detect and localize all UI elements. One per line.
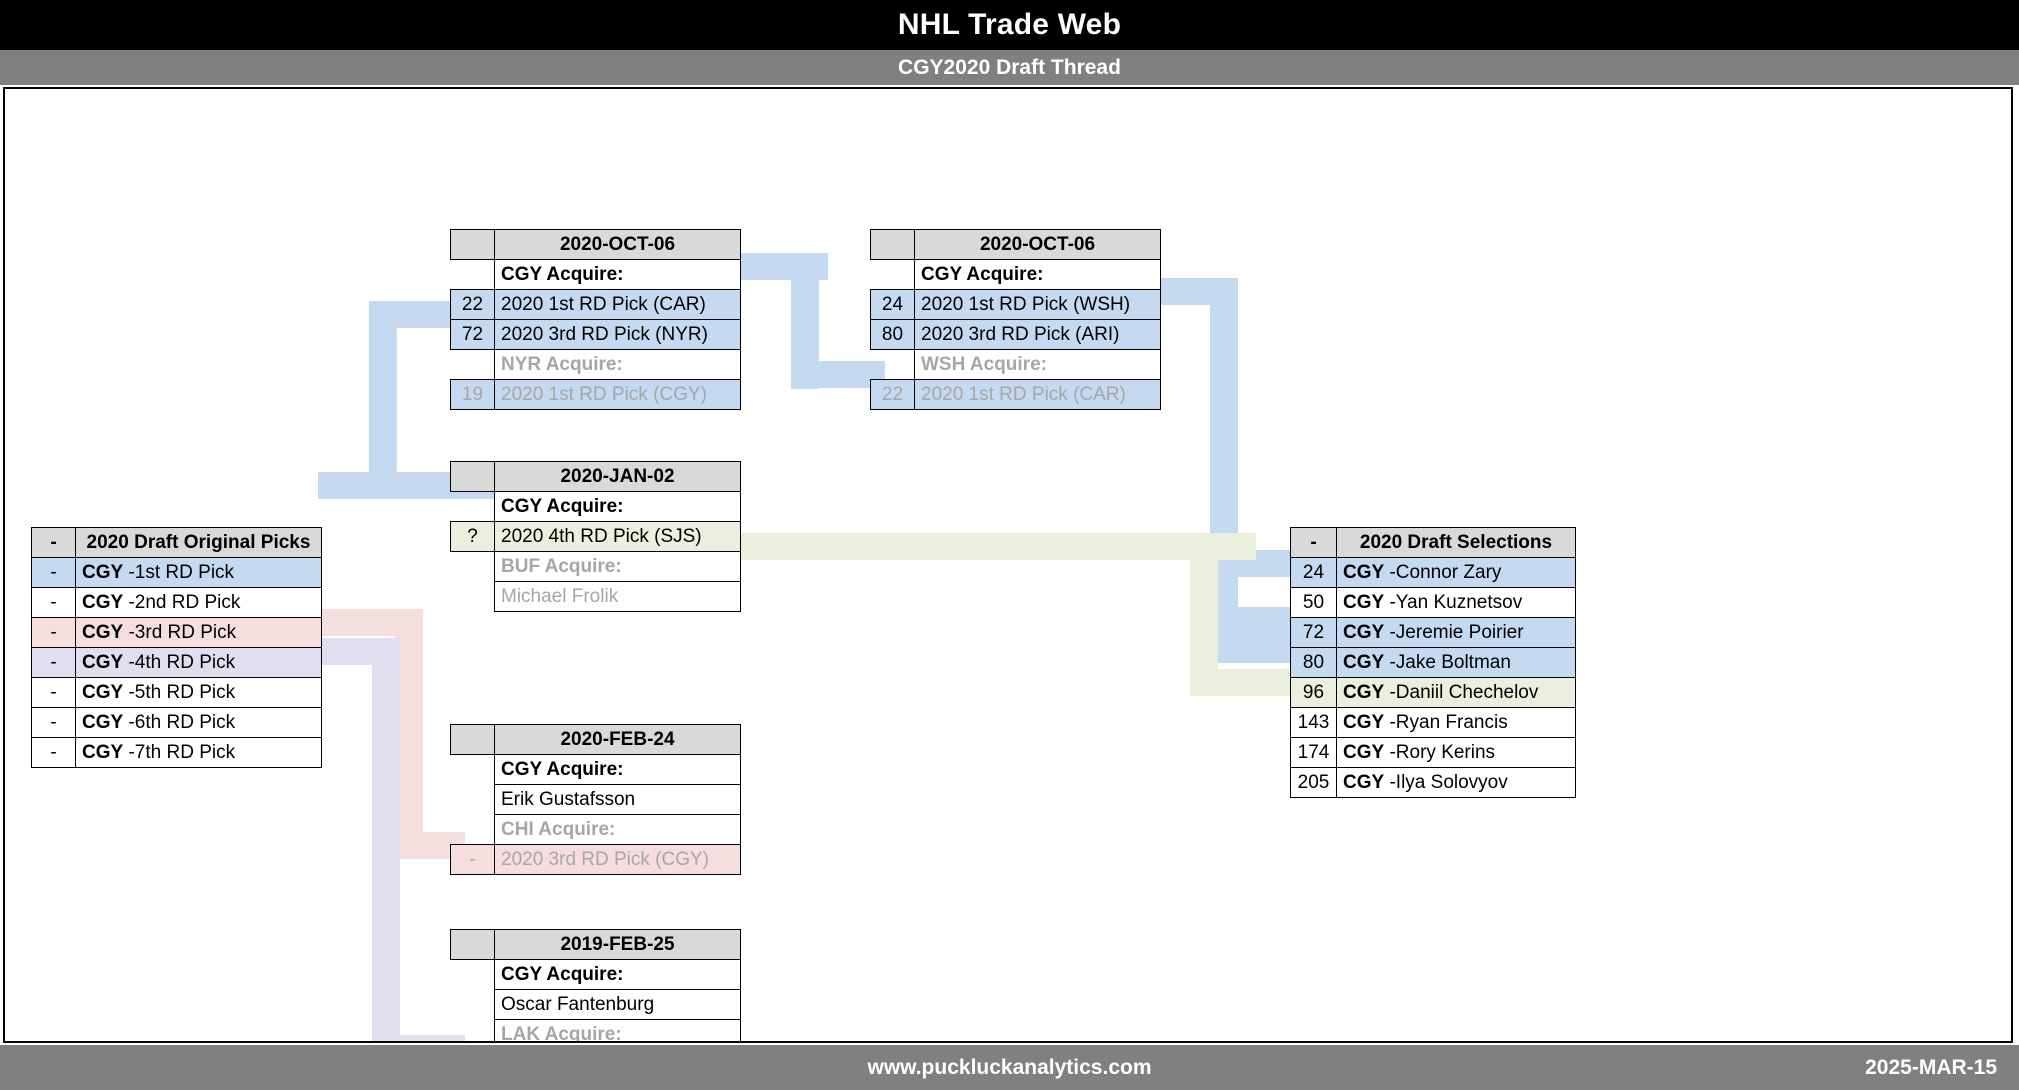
connector-blue-right-7280	[1210, 607, 1292, 663]
table-row[interactable]: - CGY -3rd RD Pick	[32, 618, 322, 648]
give-label: WSH Acquire:	[915, 350, 1161, 380]
asset-pick-number: 19	[451, 380, 495, 410]
acquire-label: CGY Acquire:	[495, 260, 741, 290]
table-row[interactable]: - CGY -7th RD Pick	[32, 738, 322, 768]
asset-pick-number: 80	[871, 320, 915, 350]
asset-desc: Erik Gustafsson	[495, 785, 741, 815]
trade-asset-row[interactable]: 22 2020 1st RD Pick (CAR)	[451, 290, 741, 320]
give-label: NYR Acquire:	[495, 350, 741, 380]
asset-pick-number: 22	[871, 380, 915, 410]
spacer-cell	[451, 785, 495, 815]
page-title: NHL Trade Web	[898, 8, 1121, 42]
team-code: CGY	[1343, 622, 1384, 643]
trade-corner	[451, 462, 495, 492]
trade-card-2020-oct-06-a: 2020-OCT-06 CGY Acquire: 22 2020 1st RD …	[450, 229, 741, 410]
trade-date-row: 2019-FEB-25	[451, 930, 741, 960]
connector-blue-1st-horiz-high	[369, 301, 463, 328]
pick-desc: CGY -1st RD Pick	[76, 558, 322, 588]
trade-asset-row[interactable]: Erik Gustafsson	[451, 785, 741, 815]
team-code: CGY	[1343, 652, 1384, 673]
spacer-cell	[451, 990, 495, 1020]
trade-acquire-header: CGY Acquire:	[451, 260, 741, 290]
trade-web-page: NHL Trade Web CGY2020 Draft Thread	[0, 0, 2019, 1090]
trade-asset-row[interactable]: 80 2020 3rd RD Pick (ARI)	[871, 320, 1161, 350]
team-code: CGY	[1343, 682, 1384, 703]
trade-date: 2019-FEB-25	[495, 930, 741, 960]
selection-desc: CGY -Yan Kuznetsov	[1337, 588, 1576, 618]
page-footer: www.puckluckanalytics.com 2025-MAR-15	[0, 1045, 2019, 1090]
diagram-canvas: - 2020 Draft Original Picks - CGY -1st R…	[3, 87, 2013, 1043]
trade-give-header: WSH Acquire:	[871, 350, 1161, 380]
spacer-cell	[451, 755, 495, 785]
trade-asset-row[interactable]: 19 2020 1st RD Pick (CGY)	[451, 380, 741, 410]
asset-desc: 2020 4th RD Pick (SJS)	[495, 522, 741, 552]
spacer-cell	[451, 582, 495, 612]
table-row[interactable]: 174 CGY -Rory Kerins	[1291, 738, 1576, 768]
trade-date-row: 2020-OCT-06	[451, 230, 741, 260]
player-name: -Ryan Francis	[1389, 712, 1507, 733]
player-name: -Ilya Solovyov	[1389, 772, 1507, 793]
asset-pick-number: 22	[451, 290, 495, 320]
acquire-label: CGY Acquire:	[915, 260, 1161, 290]
player-name: -Jake Boltman	[1389, 652, 1510, 673]
table-row[interactable]: - CGY -1st RD Pick	[32, 558, 322, 588]
pick-number: 174	[1291, 738, 1337, 768]
selection-desc: CGY -Daniil Chechelov	[1337, 678, 1576, 708]
selection-desc: CGY -Ryan Francis	[1337, 708, 1576, 738]
pick-label: -6th RD Pick	[128, 712, 235, 733]
pick-desc: CGY -7th RD Pick	[76, 738, 322, 768]
trade-corner	[451, 725, 495, 755]
trade-give-header: CHI Acquire:	[451, 815, 741, 845]
table-row[interactable]: 80 CGY -Jake Boltman	[1291, 648, 1576, 678]
selection-desc: CGY -Jeremie Poirier	[1337, 618, 1576, 648]
draft-selections-corner: -	[1291, 528, 1337, 558]
player-name: -Yan Kuznetsov	[1389, 592, 1522, 613]
draft-selections-title: 2020 Draft Selections	[1337, 528, 1576, 558]
trade-card-2020-jan-02: 2020-JAN-02 CGY Acquire: ? 2020 4th RD P…	[450, 461, 741, 612]
pick-number: 24	[1291, 558, 1337, 588]
table-header-row: - 2020 Draft Selections	[1291, 528, 1576, 558]
page-subtitle-bar: CGY2020 Draft Thread	[0, 50, 2019, 85]
pick-number: 205	[1291, 768, 1337, 798]
team-code: CGY	[1343, 742, 1384, 763]
trade-asset-row[interactable]: Oscar Fantenburg	[451, 990, 741, 1020]
pick-number: -	[32, 588, 76, 618]
selection-desc: CGY -Ilya Solovyov	[1337, 768, 1576, 798]
page-subtitle: CGY2020 Draft Thread	[898, 56, 1121, 80]
pick-label: -4th RD Pick	[128, 652, 235, 673]
team-code: CGY	[82, 562, 123, 583]
draft-selections-table: - 2020 Draft Selections 24 CGY -Connor Z…	[1290, 527, 1576, 798]
selection-desc: CGY -Rory Kerins	[1337, 738, 1576, 768]
team-code: CGY	[82, 682, 123, 703]
trade-date-row: 2020-JAN-02	[451, 462, 741, 492]
trade-date: 2020-OCT-06	[495, 230, 741, 260]
give-label: CHI Acquire:	[495, 815, 741, 845]
acquire-label: CGY Acquire:	[495, 492, 741, 522]
asset-pick-number: 72	[451, 320, 495, 350]
trade-date-row: 2020-OCT-06	[871, 230, 1161, 260]
original-picks-title: 2020 Draft Original Picks	[76, 528, 322, 558]
trade-asset-row[interactable]: - 2020 3rd RD Pick (CGY)	[451, 845, 741, 875]
pick-number: -	[32, 558, 76, 588]
trade-asset-row[interactable]: Michael Frolik	[451, 582, 741, 612]
trade-asset-row[interactable]: 24 2020 1st RD Pick (WSH)	[871, 290, 1161, 320]
trade-corner	[871, 230, 915, 260]
table-row[interactable]: - CGY -2nd RD Pick	[32, 588, 322, 618]
spacer-cell	[451, 260, 495, 290]
pick-number: -	[32, 618, 76, 648]
trade-date-row: 2020-FEB-24	[451, 725, 741, 755]
team-code: CGY	[1343, 592, 1384, 613]
trade-acquire-header: CGY Acquire:	[871, 260, 1161, 290]
trade-corner	[451, 930, 495, 960]
table-row[interactable]: 50 CGY -Yan Kuznetsov	[1291, 588, 1576, 618]
asset-desc: 2020 3rd RD Pick (NYR)	[495, 320, 741, 350]
pick-desc: CGY -3rd RD Pick	[76, 618, 322, 648]
asset-desc: 2020 3rd RD Pick (ARI)	[915, 320, 1161, 350]
asset-desc: 2020 3rd RD Pick (CGY)	[495, 845, 741, 875]
team-code: CGY	[82, 592, 123, 613]
asset-pick-number: 24	[871, 290, 915, 320]
asset-desc: 2020 1st RD Pick (CAR)	[915, 380, 1161, 410]
connector-green-horiz-top	[740, 533, 1256, 560]
pick-label: -3rd RD Pick	[128, 622, 236, 643]
pick-desc: CGY -2nd RD Pick	[76, 588, 322, 618]
spacer-cell	[871, 350, 915, 380]
table-row[interactable]: 143 CGY -Ryan Francis	[1291, 708, 1576, 738]
page-title-bar: NHL Trade Web	[0, 0, 2019, 50]
player-name: -Rory Kerins	[1389, 742, 1495, 763]
pick-number: -	[32, 708, 76, 738]
team-code: CGY	[1343, 562, 1384, 583]
spacer-cell	[451, 1020, 495, 1044]
team-code: CGY	[82, 622, 123, 643]
table-row[interactable]: - CGY -4th RD Pick	[32, 648, 322, 678]
trade-corner	[451, 230, 495, 260]
footer-date: 2025-MAR-15	[1865, 1045, 1997, 1090]
table-row[interactable]: 96 CGY -Daniil Chechelov	[1291, 678, 1576, 708]
trade-give-header: LAK Acquire:	[451, 1020, 741, 1044]
trade-date: 2020-JAN-02	[495, 462, 741, 492]
trade-acquire-header: CGY Acquire:	[451, 755, 741, 785]
trade-give-header: NYR Acquire:	[451, 350, 741, 380]
selection-desc: CGY -Jake Boltman	[1337, 648, 1576, 678]
asset-desc: 2020 1st RD Pick (WSH)	[915, 290, 1161, 320]
team-code: CGY	[82, 652, 123, 673]
asset-pick-number: -	[451, 845, 495, 875]
pick-number: -	[32, 648, 76, 678]
give-label: BUF Acquire:	[495, 552, 741, 582]
trade-acquire-header: CGY Acquire:	[451, 492, 741, 522]
trade-acquire-header: CGY Acquire:	[451, 960, 741, 990]
acquire-label: CGY Acquire:	[495, 755, 741, 785]
asset-desc: 2020 1st RD Pick (CAR)	[495, 290, 741, 320]
team-code: CGY	[82, 712, 123, 733]
trade-give-header: BUF Acquire:	[451, 552, 741, 582]
pick-number: -	[32, 678, 76, 708]
pick-label: -5th RD Pick	[128, 682, 235, 703]
pick-label: -7th RD Pick	[128, 742, 235, 763]
trade-card-2020-feb-24: 2020-FEB-24 CGY Acquire: Erik Gustafsson…	[450, 724, 741, 875]
connector-green-horiz-low	[1190, 669, 1292, 696]
pick-desc: CGY -6th RD Pick	[76, 708, 322, 738]
pick-number: 80	[1291, 648, 1337, 678]
pick-number: 96	[1291, 678, 1337, 708]
table-row[interactable]: 72 CGY -Jeremie Poirier	[1291, 618, 1576, 648]
pick-number: -	[32, 738, 76, 768]
player-name: -Daniil Chechelov	[1389, 682, 1538, 703]
trade-card-2019-feb-25: 2019-FEB-25 CGY Acquire: Oscar Fantenbur…	[450, 929, 741, 1043]
trade-asset-row[interactable]: ? 2020 4th RD Pick (SJS)	[451, 522, 741, 552]
table-row[interactable]: - CGY -5th RD Pick	[32, 678, 322, 708]
asset-desc: Oscar Fantenburg	[495, 990, 741, 1020]
team-code: CGY	[1343, 712, 1384, 733]
original-picks-corner: -	[32, 528, 76, 558]
trade-asset-row[interactable]: 22 2020 1st RD Pick (CAR)	[871, 380, 1161, 410]
footer-website[interactable]: www.puckluckanalytics.com	[0, 1045, 2019, 1090]
pick-label: -1st RD Pick	[128, 562, 234, 583]
spacer-cell	[451, 492, 495, 522]
selection-desc: CGY -Connor Zary	[1337, 558, 1576, 588]
pick-desc: CGY -4th RD Pick	[76, 648, 322, 678]
team-code: CGY	[1343, 772, 1384, 793]
connector-blue-1st-vert	[369, 301, 397, 499]
spacer-cell	[451, 552, 495, 582]
acquire-label: CGY Acquire:	[495, 960, 741, 990]
pick-number: 143	[1291, 708, 1337, 738]
team-code: CGY	[82, 742, 123, 763]
trade-card-2020-oct-06-b: 2020-OCT-06 CGY Acquire: 24 2020 1st RD …	[870, 229, 1161, 410]
asset-desc: 2020 1st RD Pick (CGY)	[495, 380, 741, 410]
spacer-cell	[451, 350, 495, 380]
trade-asset-row[interactable]: 72 2020 3rd RD Pick (NYR)	[451, 320, 741, 350]
table-row[interactable]: - CGY -6th RD Pick	[32, 708, 322, 738]
spacer-cell	[451, 960, 495, 990]
pick-number: 50	[1291, 588, 1337, 618]
pick-desc: CGY -5th RD Pick	[76, 678, 322, 708]
asset-pick-number: ?	[451, 522, 495, 552]
trade-date: 2020-OCT-06	[915, 230, 1161, 260]
original-picks-table: - 2020 Draft Original Picks - CGY -1st R…	[31, 527, 322, 768]
spacer-cell	[451, 815, 495, 845]
player-name: -Jeremie Poirier	[1389, 622, 1523, 643]
pick-label: -2nd RD Pick	[128, 592, 240, 613]
trade-date: 2020-FEB-24	[495, 725, 741, 755]
spacer-cell	[871, 260, 915, 290]
give-label: LAK Acquire:	[495, 1020, 741, 1044]
player-name: -Connor Zary	[1389, 562, 1501, 583]
connector-purple-vert	[372, 638, 400, 1043]
pick-number: 72	[1291, 618, 1337, 648]
table-row[interactable]: 205 CGY -Ilya Solovyov	[1291, 768, 1576, 798]
asset-desc: Michael Frolik	[495, 582, 741, 612]
table-row[interactable]: 24 CGY -Connor Zary	[1291, 558, 1576, 588]
table-header-row: - 2020 Draft Original Picks	[32, 528, 322, 558]
